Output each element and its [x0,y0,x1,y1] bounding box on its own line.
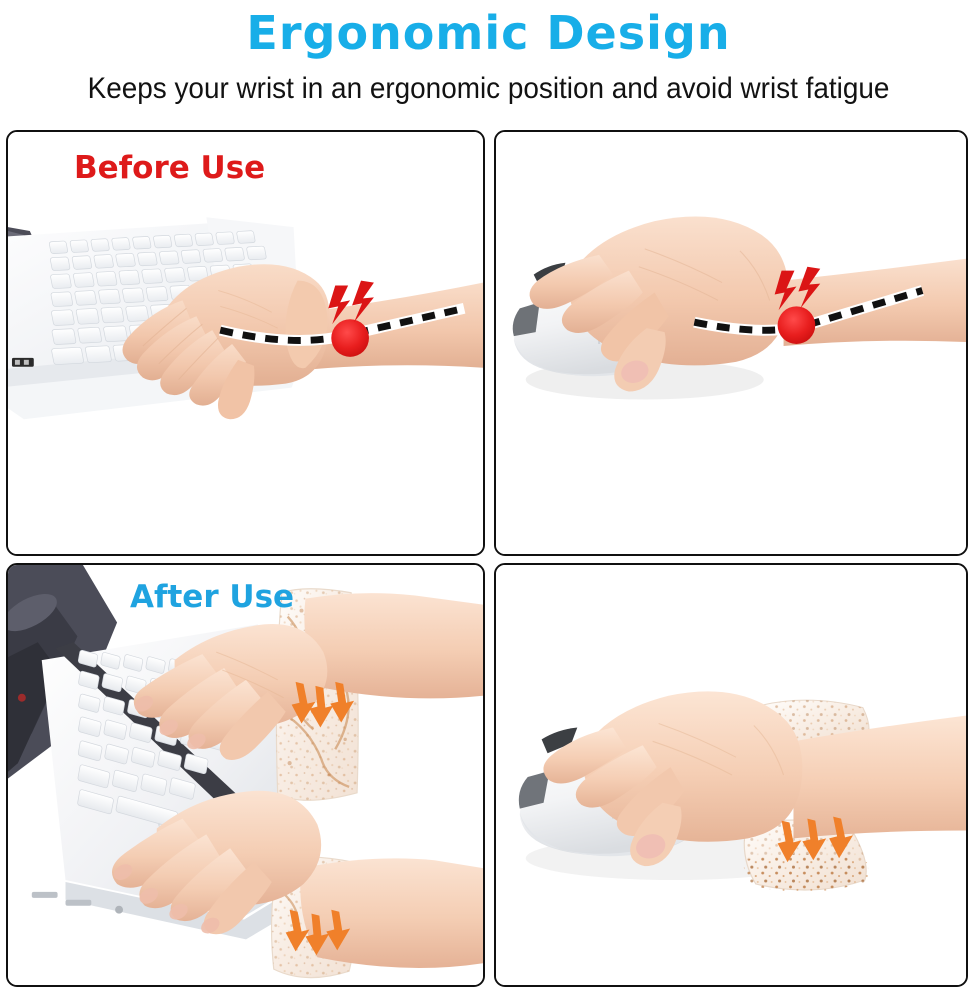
scene-before-keyboard [8,132,483,554]
scene-after-mouse [496,565,966,985]
pain-point-indicator [331,319,369,357]
scene-before-mouse [496,132,966,554]
label-before-use: Before Use [74,150,265,186]
panel-after-use-keyboard: After Use [6,563,485,987]
panel-before-use-mouse [494,130,968,556]
page-title: Ergonomic Design [0,4,977,62]
panel-before-use-keyboard: Before Use [6,130,485,556]
scene-after-keyboard [8,565,483,985]
label-after-use: After Use [130,579,294,615]
pain-point-indicator [778,306,816,344]
header: Ergonomic Design Keeps your wrist in an … [0,0,977,122]
page-subtitle: Keeps your wrist in an ergonomic positio… [34,70,943,108]
panel-after-use-mouse [494,563,968,987]
